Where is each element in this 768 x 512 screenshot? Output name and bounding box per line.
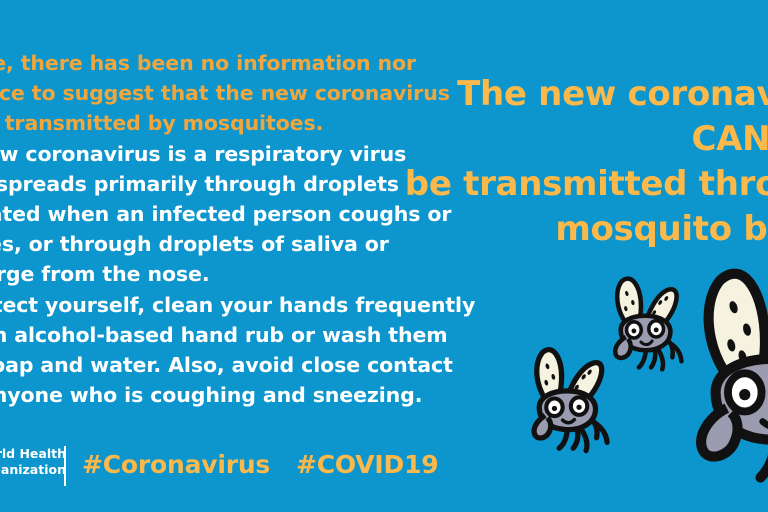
headline-line-emphasis: CANNOT <box>330 117 768 162</box>
who-logo: World Health Organization <box>0 446 66 492</box>
headline-line: The new coronavirus <box>330 72 768 117</box>
body-copy-line: discharge from the nose. <box>0 259 442 289</box>
footer-bar: World Health Organization #Coronavirus #… <box>0 440 768 512</box>
poster-canvas: To date, there has been no information n… <box>0 0 768 512</box>
who-logo-line-2: Organization <box>0 462 66 478</box>
body-copy-line: with soap and water. Also, avoid close c… <box>0 350 442 380</box>
headline-block: The new coronavirus CANNOT be transmitte… <box>330 72 768 252</box>
hashtag-covid19[interactable]: #COVID19 <box>296 450 438 479</box>
body-copy-line: with an alcohol-based hand rub or wash t… <box>0 320 442 350</box>
who-logo-line-1: World Health <box>0 446 66 462</box>
headline-line: be transmitted through <box>330 162 768 207</box>
body-copy-line: with anyone who is coughing and sneezing… <box>0 380 442 410</box>
who-logo-divider <box>64 446 66 486</box>
headline-line: mosquito bites. <box>330 207 768 252</box>
body-copy-line: To protect yourself, clean your hands fr… <box>0 290 442 320</box>
hashtag-coronavirus[interactable]: #Coronavirus <box>82 450 270 479</box>
